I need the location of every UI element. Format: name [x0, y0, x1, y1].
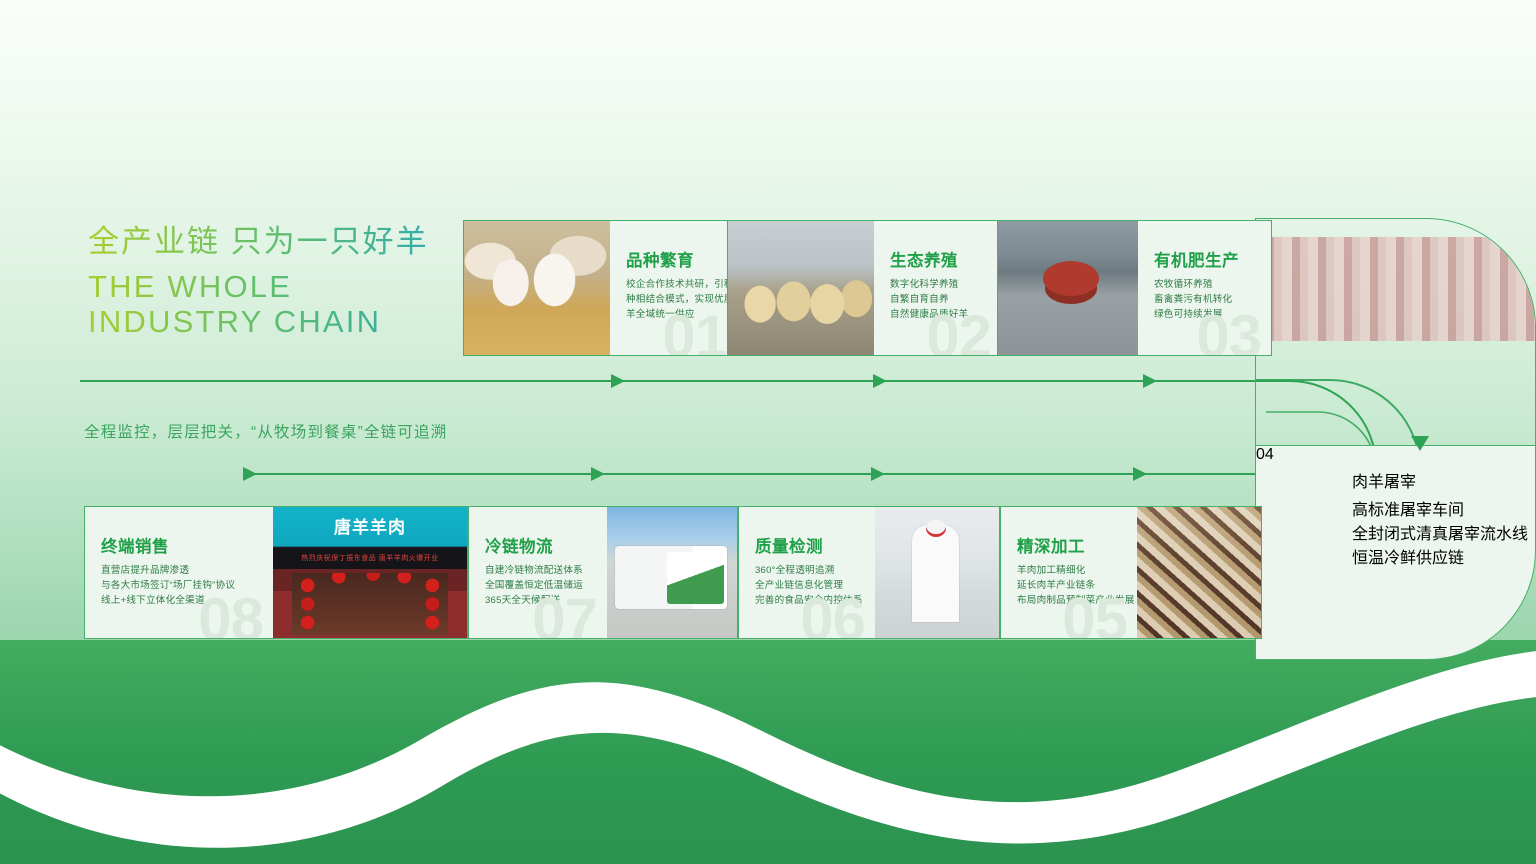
step-05-title: 精深加工	[1017, 533, 1085, 557]
cold-chain-truck-photo	[607, 507, 737, 638]
step-08-panel: 终端销售 直营店提升品牌渗透 与各大市场签订“场厂挂钩”协议 线上+线下立体化全…	[85, 507, 273, 638]
step-03-card[interactable]: 有机肥生产 农牧循环养殖 畜禽粪污有机转化 绿色可持续发展 03	[997, 220, 1272, 356]
step-05-card[interactable]: 精深加工 羊肉加工精细化 延长肉羊产业链条 布局肉制品预制菜产业发展 05	[1000, 506, 1262, 639]
step-02-photo-area	[728, 221, 874, 355]
step-03-photo-area	[998, 221, 1138, 355]
step-04-number: 04	[1256, 446, 1535, 464]
headline-chinese: 全产业链 只为一只好羊	[88, 222, 508, 262]
step-08-number: 08	[198, 590, 263, 638]
fertilizer-machinery-photo	[998, 221, 1138, 355]
infographic-canvas: 全产业链 只为一只好羊 THE WHOLE INDUSTRY CHAIN 全程监…	[0, 0, 1536, 864]
storefront-sign-text: 唐羊羊肉	[289, 512, 452, 538]
step-01-photo-area	[464, 221, 610, 355]
step-07-card[interactable]: 冷链物流 自建冷链物流配送体系 全国覆盖恒定低温储运 365天全天候配送 07	[468, 506, 738, 639]
step-05-panel: 精深加工 羊肉加工精细化 延长肉羊产业链条 布局肉制品预制菜产业发展 05	[1001, 507, 1137, 638]
step-03-panel: 有机肥生产 农牧循环养殖 畜禽粪污有机转化 绿色可持续发展 03	[1138, 221, 1271, 355]
turn-down-arrow-icon	[1405, 436, 1435, 454]
headline-block: 全产业链 只为一只好羊 THE WHOLE INDUSTRY CHAIN	[88, 222, 508, 340]
storefront-balloon-arch	[292, 573, 447, 636]
step-01-card[interactable]: 品种繁育 校企合作技术共研，引种育 种相结合模式，实现优质羔 羊全域统一供应 0…	[463, 220, 738, 356]
step-02-line-1: 数字化科学养殖	[890, 277, 968, 292]
step-01-line-1: 校企合作技术共研，引种育	[626, 277, 737, 292]
step-04-line-2: 全封闭式清真屠宰流水线	[1352, 520, 1528, 544]
processed-meat-photo	[1137, 507, 1261, 638]
step-02-number: 02	[926, 307, 991, 355]
lambs-on-straw-photo	[464, 221, 610, 355]
step-05-line-1: 羊肉加工精细化	[1017, 563, 1135, 578]
step-08-photo-area: 唐羊羊肉 热烈庆祝保丁振东食品 唐羊羊肉火爆开业	[273, 507, 467, 638]
step-03-line-1: 农牧循环养殖	[1154, 277, 1232, 292]
step-06-card[interactable]: 质量检测 360°全程透明追溯 全产业链信息化管理 完善的食品安全内控体系 06	[738, 506, 1000, 639]
headline-english-line1: THE WHOLE	[88, 268, 508, 305]
step-03-title: 有机肥生产	[1154, 247, 1239, 271]
retail-storefront-photo: 唐羊羊肉 热烈庆祝保丁振东食品 唐羊羊肉火爆开业	[273, 507, 467, 638]
lab-inspection-photo	[875, 507, 999, 638]
step-02-card[interactable]: 生态养殖 数字化科学养殖 自繁自育自养 自然健康品质好羊 02	[727, 220, 1002, 356]
step-07-title: 冷链物流	[485, 533, 553, 557]
step-07-panel: 冷链物流 自建冷链物流配送体系 全国覆盖恒定低温储运 365天全天候配送 07	[469, 507, 607, 638]
step-08-title: 终端销售	[101, 533, 169, 557]
storefront-banner-text: 热烈庆祝保丁振东食品 唐羊羊肉火爆开业	[273, 548, 467, 569]
step-04-lines: 高标准屠宰车间 全封闭式清真屠宰流水线 恒温冷鲜供应链	[1352, 496, 1528, 568]
step-01-title: 品种繁育	[626, 247, 694, 271]
step-04-title: 肉羊屠宰	[1352, 468, 1416, 492]
step-02-title: 生态养殖	[890, 247, 958, 271]
step-06-panel: 质量检测 360°全程透明追溯 全产业链信息化管理 完善的食品安全内控体系 06	[739, 507, 875, 638]
step-08-card[interactable]: 终端销售 直营店提升品牌渗透 与各大市场签订“场厂挂钩”协议 线上+线下立体化全…	[84, 506, 468, 639]
step-07-line-1: 自建冷链物流配送体系	[485, 563, 583, 578]
step-07-photo-area	[607, 507, 737, 638]
step-06-photo-area	[875, 507, 999, 638]
step-04-line-3: 恒温冷鲜供应链	[1352, 544, 1528, 568]
step-05-photo-area	[1137, 507, 1261, 638]
step-07-number: 07	[532, 590, 597, 638]
step-06-title: 质量检测	[755, 533, 823, 557]
step-04-line-1: 高标准屠宰车间	[1352, 496, 1528, 520]
headline-english-line2: INDUSTRY CHAIN	[88, 303, 508, 340]
step-04-turn-block[interactable]: 肉羊屠宰 高标准屠宰车间 全封闭式清真屠宰流水线 恒温冷鲜供应链 04	[1255, 218, 1536, 660]
step-01-number: 01	[662, 307, 727, 355]
step-01-panel: 品种繁育 校企合作技术共研，引种育 种相结合模式，实现优质羔 羊全域统一供应 0…	[610, 221, 737, 355]
tagline-text: 全程监控，层层把关，“从牧场到餐桌”全链可追溯	[84, 420, 447, 442]
step-03-number: 03	[1196, 307, 1261, 355]
sheep-barn-photo	[728, 221, 874, 355]
step-02-panel: 生态养殖 数字化科学养殖 自繁自育自养 自然健康品质好羊 02	[874, 221, 1001, 355]
step-06-line-1: 360°全程透明追溯	[755, 563, 863, 578]
step-06-number: 06	[800, 590, 865, 638]
step-05-number: 05	[1062, 590, 1127, 638]
step-08-line-1: 直营店提升品牌渗透	[101, 563, 235, 578]
